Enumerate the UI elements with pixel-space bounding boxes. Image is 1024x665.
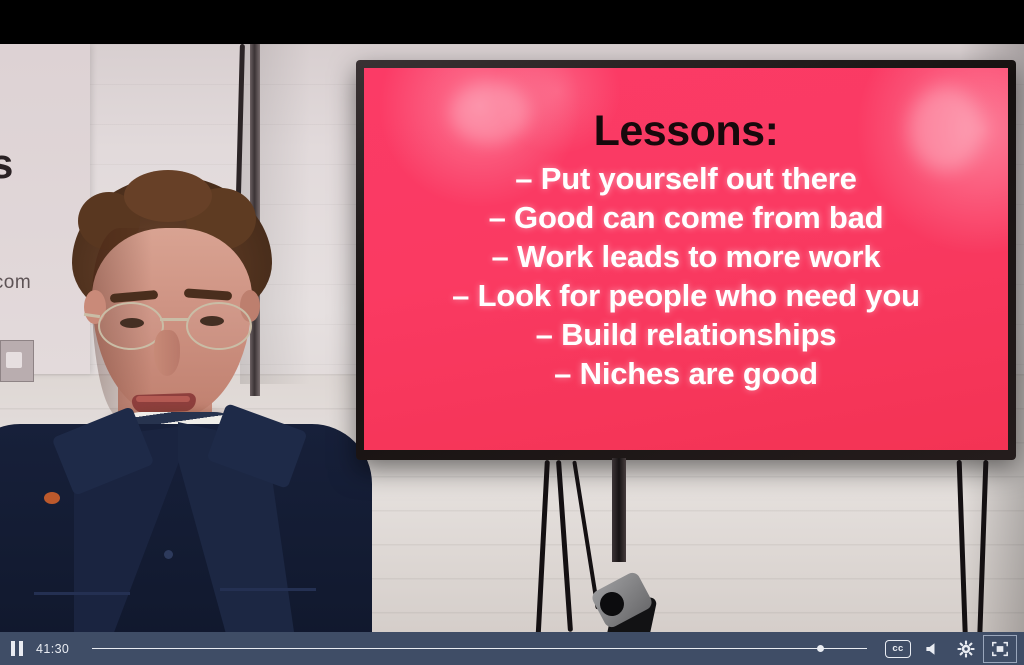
jacket-pocket-left [34, 592, 130, 595]
slide-bullet: – Put yourself out there [452, 159, 920, 198]
fullscreen-icon [991, 640, 1009, 658]
presentation-slide: Lessons: – Put yourself out there – Good… [364, 68, 1008, 450]
slide-bullet: – Good can come from bad [452, 198, 920, 237]
gear-icon [957, 640, 975, 658]
pause-button[interactable] [0, 632, 34, 665]
video-scene: s s .com [0, 44, 1024, 632]
slide-bullet: – Build relationships [452, 315, 920, 354]
slide-bullet: – Look for people who need you [452, 276, 920, 315]
mouth-highlight [136, 396, 190, 402]
volume-button[interactable] [915, 632, 949, 665]
progress-handle[interactable] [817, 645, 824, 652]
player-controls-bar: 41:30 cc [0, 632, 1024, 665]
letterbox-bar-top [0, 0, 1024, 44]
closed-caption-icon: cc [885, 640, 911, 658]
volume-mute-icon [924, 641, 941, 657]
progress-track [92, 648, 867, 650]
tv-wall-mount [612, 458, 626, 562]
jacket-button-1 [164, 550, 173, 559]
fullscreen-button[interactable] [983, 635, 1017, 663]
glasses-bridge [160, 318, 188, 321]
wall-mounted-tv: Lessons: – Put yourself out there – Good… [356, 60, 1016, 460]
slide-title: Lessons: [594, 110, 779, 153]
current-time-label: 41:30 [36, 642, 76, 656]
jacket-pocket-right [220, 588, 316, 591]
pause-icon [11, 641, 23, 656]
progress-bar[interactable] [92, 632, 867, 665]
tv-screen: Lessons: – Put yourself out there – Good… [364, 68, 1008, 450]
slide-bullet: – Niches are good [452, 354, 920, 393]
settings-button[interactable] [949, 632, 983, 665]
nose [154, 330, 180, 376]
speaker-figure [0, 140, 372, 632]
background-orange-object [44, 492, 60, 504]
slide-bullet-list: – Put yourself out there – Good can come… [452, 159, 920, 393]
hair-tuft-top [124, 170, 212, 222]
lens-right [186, 302, 252, 350]
captions-button[interactable]: cc [881, 632, 915, 665]
video-player: s s .com [0, 0, 1024, 665]
slide-bullet: – Work leads to more work [452, 237, 920, 276]
video-surface[interactable]: s s .com [0, 0, 1024, 632]
